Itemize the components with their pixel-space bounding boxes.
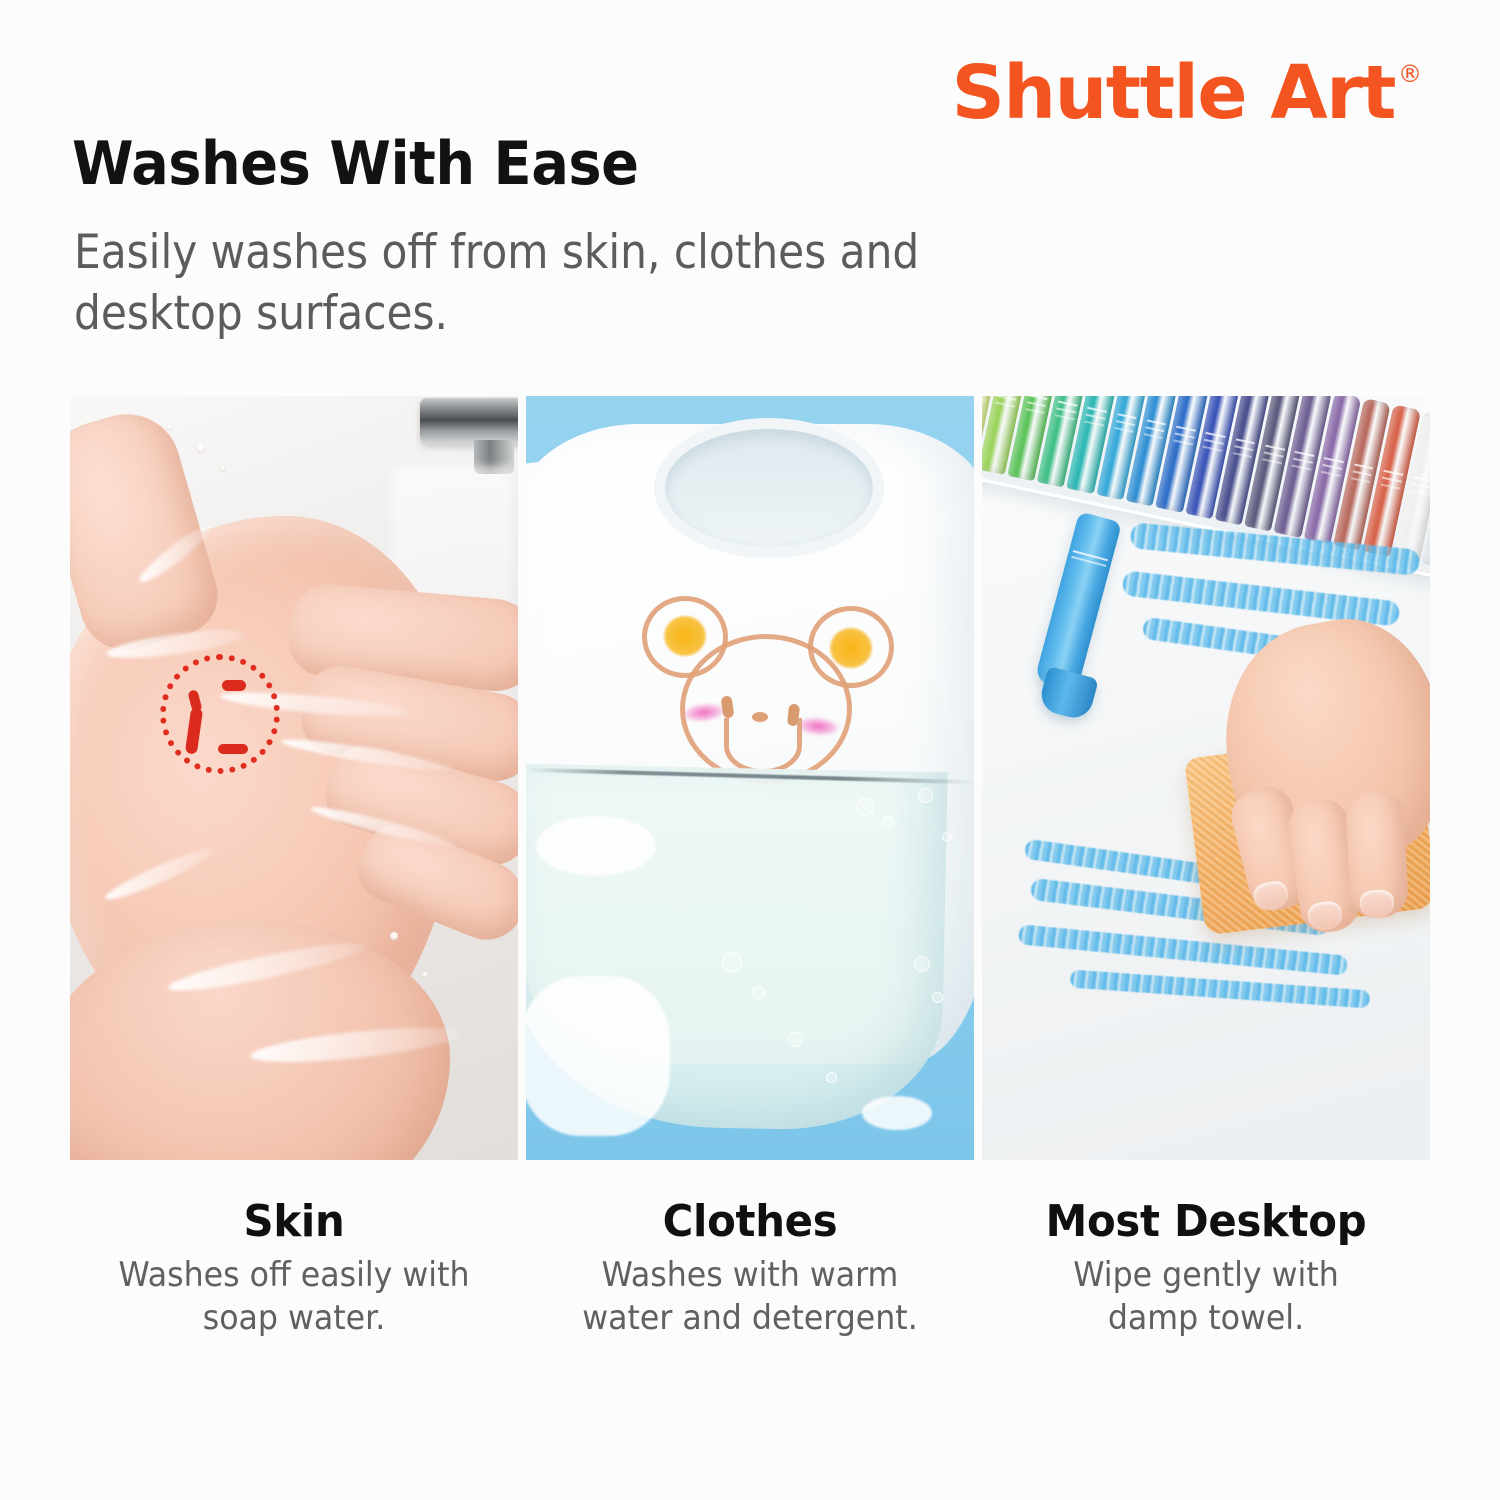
soap-bubble: [918, 788, 933, 803]
caption-title: Clothes: [547, 1198, 954, 1246]
page-title: Washes With Ease: [72, 133, 639, 196]
soap-bubble: [752, 986, 765, 999]
blue-paint-stick: [1034, 511, 1122, 692]
bear-nose: [752, 712, 768, 722]
soap-bubble: [826, 1072, 837, 1083]
soap-bubble: [722, 952, 742, 972]
faucet-icon: [420, 398, 518, 444]
smiley-eye-right: [222, 680, 246, 691]
feature-panels: [70, 396, 1430, 1160]
tshirt-collar: [654, 418, 884, 558]
water-droplet: [196, 444, 205, 453]
caption-body: Washes off easily with soap water.: [95, 1254, 493, 1341]
caption-title: Most Desktop: [1003, 1198, 1410, 1246]
brand-logo: Shuttle Art ®: [952, 58, 1422, 128]
water-droplet: [422, 972, 428, 978]
soap-foam: [862, 1096, 932, 1130]
soap-foam: [526, 976, 670, 1136]
smiley-mouth: [185, 707, 203, 754]
blue-paint-stroke: [1070, 970, 1371, 1009]
caption-desktop: Most Desktop Wipe gently with damp towel…: [982, 1198, 1430, 1341]
soap-bubble: [942, 832, 952, 842]
soap-bubble: [788, 1032, 803, 1047]
blue-paint-stick-cap: [1037, 666, 1099, 722]
bear-ear-fill-right: [830, 628, 872, 668]
caption-title: Skin: [91, 1198, 498, 1246]
water-droplet: [390, 932, 398, 940]
soap-bubble: [856, 798, 874, 816]
soap-bubble: [882, 816, 894, 828]
page-subtitle: Easily washes off from skin, clothes and…: [74, 222, 919, 344]
smiley-nose: [218, 744, 248, 754]
soap-bubble: [932, 992, 943, 1003]
red-smiley-drawing: [160, 654, 280, 774]
caption-skin: Skin Washes off easily with soap water.: [70, 1198, 518, 1341]
bear-snout: [724, 718, 802, 774]
panel-image-clothes: [526, 396, 974, 1160]
panel-image-desktop: [982, 396, 1430, 1160]
soap-foam: [536, 816, 656, 876]
bear-ear-fill-left: [664, 616, 706, 656]
water-droplet: [166, 424, 173, 431]
water-droplet: [220, 466, 226, 472]
registered-trademark-icon: ®: [1398, 62, 1422, 86]
panel-image-skin: [70, 396, 518, 1160]
soap-bubble: [914, 956, 930, 972]
feature-captions: Skin Washes off easily with soap water. …: [70, 1198, 1430, 1341]
caption-body: Wipe gently with damp towel.: [1007, 1254, 1405, 1341]
blue-paint-stroke: [1121, 570, 1400, 626]
brand-logo-text: Shuttle Art: [952, 58, 1395, 128]
bear-face-drawing: [636, 592, 896, 792]
caption-clothes: Clothes Washes with warm water and deter…: [526, 1198, 974, 1341]
caption-body: Washes with warm water and detergent.: [551, 1254, 949, 1341]
